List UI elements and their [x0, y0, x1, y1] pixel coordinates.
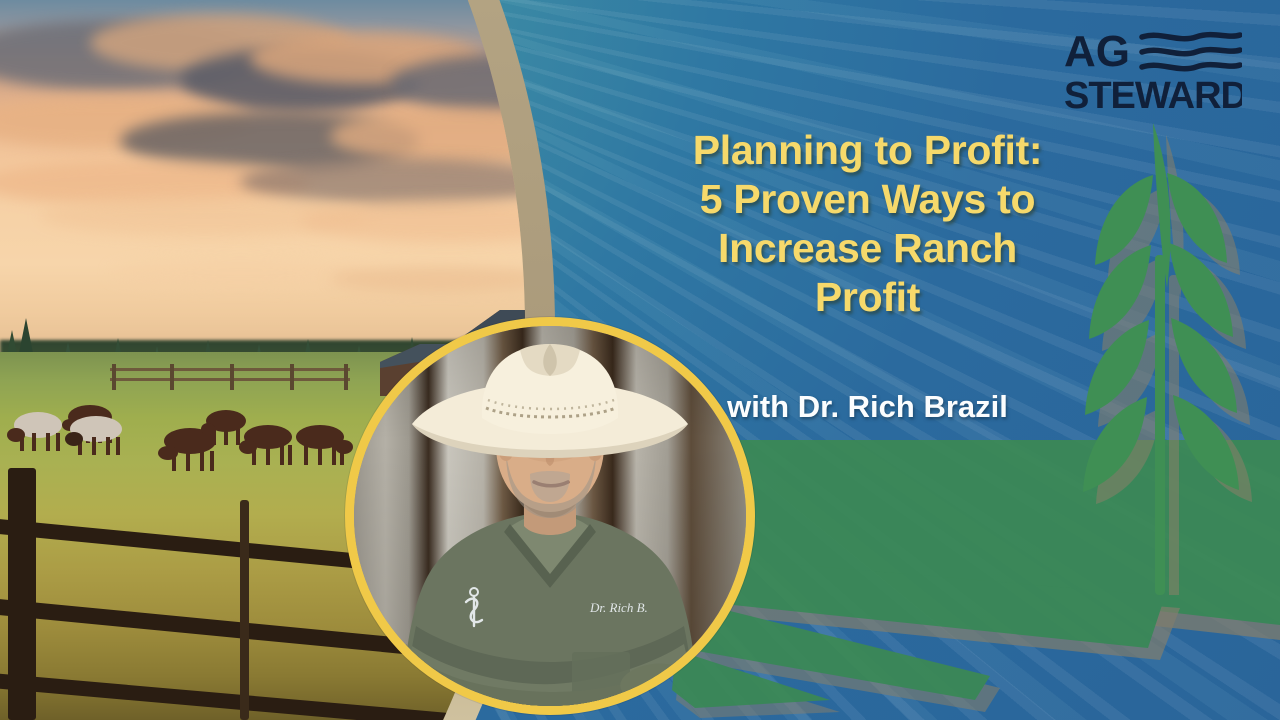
logo-steward-text: STEWARD	[1064, 75, 1242, 114]
title-line-2: 5 Proven Ways to	[615, 175, 1120, 224]
title-line-4: Profit	[615, 273, 1120, 322]
title-line-3: Increase Ranch	[615, 224, 1120, 273]
presenter-subtitle: with Dr. Rich Brazil	[615, 388, 1120, 426]
speaker-portrait: Dr. Rich B.	[345, 317, 755, 715]
promo-slide: Dr. Rich B. AG STEWARD Planning to Profi…	[0, 0, 1280, 720]
logo-ag-text: AG	[1064, 27, 1130, 76]
scrubs-embroidery-text: Dr. Rich B.	[589, 600, 648, 615]
wavy-lines-icon	[1142, 35, 1240, 69]
page-title: Planning to Profit: 5 Proven Ways to Inc…	[615, 126, 1120, 322]
speaker-figure: Dr. Rich B.	[354, 326, 746, 706]
title-line-1: Planning to Profit:	[615, 126, 1120, 175]
ag-steward-logo[interactable]: AG STEWARD	[1064, 26, 1242, 114]
